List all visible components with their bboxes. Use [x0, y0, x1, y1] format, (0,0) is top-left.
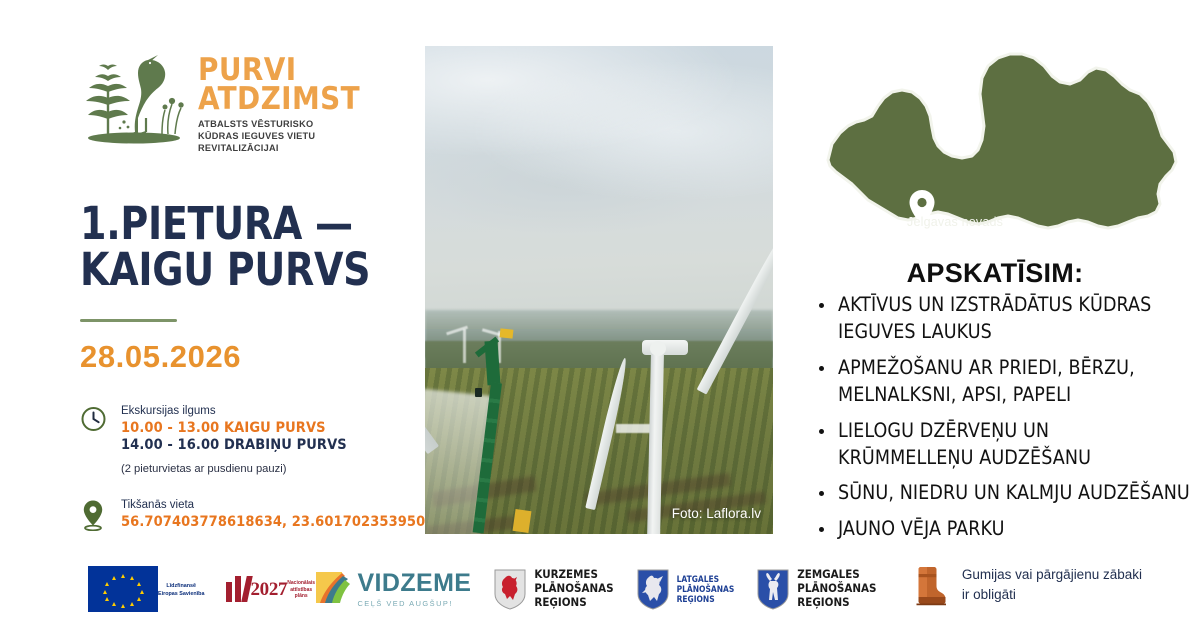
- latgale-line-2: PLĀNOŠANAS: [677, 584, 735, 594]
- duration-slot-2: 14.00 - 16.00 DRABIŅU PURVS: [121, 437, 347, 455]
- eu-flag-icon: [88, 566, 158, 612]
- bog-crane-and-pine-icon: [80, 42, 188, 150]
- meeting-point-label: Tikšanās vieta: [121, 498, 453, 514]
- brand-wordmark: PURVI ATDZIMST ATBALSTS VĒSTURISKO KŪDRA…: [198, 42, 360, 155]
- latgale-region-name: LATGALES PLĀNOŠANAS REĢIONS: [677, 574, 735, 604]
- duration-body: Ekskursijas ilgums 10.00 - 13.00 KAIGU P…: [121, 403, 347, 475]
- list-item: APMEŽOŠANU AR PRIEDI, BĒRZU, MELNALKSNI,…: [814, 355, 1190, 409]
- vidzeme-wordmark: VIDZEME CEĻŠ VED AUGŠUP!: [357, 571, 471, 608]
- kurzeme-lion-shield-icon: [493, 568, 527, 610]
- kurzeme-region-name: KURZEMES PLĀNOŠANAS REĢIONS: [534, 568, 613, 609]
- meeting-point-body: Tikšanās vieta 56.707403778618634, 23.60…: [121, 497, 453, 530]
- brand-tagline: ATBALSTS VĒSTURISKO KŪDRAS IEGUVES VIETU…: [198, 119, 360, 154]
- vidzeme-logo: VIDZEME CEĻŠ VED AUGŠUP!: [312, 569, 471, 609]
- footwear-line-2: ir obligāti: [962, 585, 1142, 605]
- nap-year: 2027: [250, 580, 287, 599]
- photo-credit: Foto: Laflora.lv: [672, 506, 761, 521]
- duration-block: Ekskursijas ilgums 10.00 - 13.00 KAIGU P…: [80, 403, 410, 475]
- zemgale-region-logo: ZEMGALES PLĀNOŠANAS REĢIONS: [756, 568, 876, 610]
- eu-caption-line-1: Līdzfinansē: [158, 583, 204, 590]
- meeting-point-block: Tikšanās vieta 56.707403778618634, 23.60…: [80, 497, 410, 530]
- eu-cofunding-logo: Līdzfinansē Eiropas Savienība: [88, 566, 204, 612]
- latgale-line-1: LATGALES: [677, 574, 735, 584]
- rubber-boot-icon: [908, 564, 948, 606]
- hero-photo: Foto: Laflora.lv: [425, 46, 773, 534]
- nap-2027-logo: 2027 Nacionālais attīstības plāns: [226, 576, 290, 602]
- left-column: PURVI ATDZIMST ATBALSTS VĒSTURISKO KŪDRA…: [80, 42, 410, 530]
- photo-crane-hook: [475, 388, 482, 397]
- list-item: LIELOGU DZĒRVEŅU UN KRŪMMELLEŅU AUDZĒŠAN…: [814, 418, 1190, 472]
- photo-crane-top: [484, 341, 500, 386]
- kurzeme-line-2: PLĀNOŠANAS: [534, 582, 613, 596]
- nap-caption-line-1: Nacionālais: [287, 580, 315, 587]
- vidzeme-name: VIDZEME: [357, 571, 471, 596]
- brand-logo: PURVI ATDZIMST ATBALSTS VĒSTURISKO KŪDRA…: [80, 42, 410, 155]
- nap-caption: Nacionālais attīstības plāns: [287, 580, 315, 600]
- zemgale-elk-shield-icon: [756, 568, 790, 610]
- right-column: Jelgavas novads APSKATĪSIM: AKTĪVUS UN I…: [800, 40, 1190, 540]
- title-divider: [80, 319, 177, 322]
- latvia-map: Jelgavas novads: [822, 40, 1182, 255]
- brand-tagline-line-3: REVITALIZĀCIJAI: [198, 143, 360, 155]
- footer-logo-strip: Līdzfinansē Eiropas Savienība 2027 Nacio…: [88, 566, 877, 612]
- zemgale-line-2: PLĀNOŠANAS: [797, 582, 876, 596]
- event-poster: PURVI ATDZIMST ATBALSTS VĒSTURISKO KŪDRA…: [0, 0, 1200, 630]
- see-section-list: AKTĪVUS UN IZSTRĀDĀTUS KŪDRAS IEGUVES LA…: [814, 292, 1190, 552]
- kurzeme-region-logo: KURZEMES PLĀNOŠANAS REĢIONS: [493, 568, 613, 610]
- photo-crane-yellow-section: [499, 328, 513, 338]
- latgale-griffin-shield-icon: [636, 568, 670, 610]
- duration-slot-1: 10.00 - 13.00 KAIGU PURVS: [121, 420, 347, 438]
- footwear-line-1: Gumijas vai pārgājienu zābaki: [962, 565, 1142, 585]
- meeting-point-coordinates[interactable]: 56.707403778618634, 23.601702353950568: [121, 514, 453, 530]
- photo-turbine-hub: [650, 341, 666, 356]
- list-item: AKTĪVUS UN IZSTRĀDĀTUS KŪDRAS IEGUVES LA…: [814, 292, 1190, 346]
- brand-tagline-line-1: ATBALSTS VĒSTURISKO: [198, 119, 360, 131]
- page-title: 1.PIETURA — KAIGU PURVS: [80, 201, 390, 294]
- kurzeme-line-3: REĢIONS: [534, 596, 613, 610]
- duration-note: (2 pieturvietas ar pusdienu pauzi): [121, 463, 347, 475]
- event-date: 28.05.2026: [80, 339, 410, 375]
- eu-logo-caption: Līdzfinansē Eiropas Savienība: [158, 583, 204, 597]
- duration-label: Ekskursijas ilgums: [121, 404, 347, 420]
- map-region-label: Jelgavas novads: [907, 215, 1003, 229]
- map-pin-icon: [80, 497, 108, 527]
- brand-word-atdzimst: ATDZIMST: [198, 85, 360, 114]
- nap-caption-line-2: attīstības plāns: [287, 587, 315, 600]
- see-section-title: APSKATĪSIM:: [800, 258, 1190, 289]
- clock-icon: [80, 403, 108, 433]
- vidzeme-swoosh-icon: [312, 569, 350, 609]
- zemgale-line-3: REĢIONS: [797, 596, 876, 610]
- brand-tagline-line-2: KŪDRAS IEGUVES VIETU: [198, 131, 360, 143]
- list-item: SŪNU, NIEDRU UN KALMJU AUDZĒŠANU: [814, 480, 1190, 507]
- photo-distant-turbine: [463, 329, 466, 363]
- page-title-line-2: KAIGU PURVS: [80, 247, 390, 293]
- event-details: Ekskursijas ilgums 10.00 - 13.00 KAIGU P…: [80, 403, 410, 529]
- footwear-text: Gumijas vai pārgājienu zābaki ir obligāt…: [962, 565, 1142, 604]
- page-title-line-1: 1.PIETURA —: [80, 197, 353, 250]
- zemgale-region-name: ZEMGALES PLĀNOŠANAS REĢIONS: [797, 568, 876, 609]
- footwear-requirement: Gumijas vai pārgājienu zābaki ir obligāt…: [908, 564, 1142, 606]
- nap-bars-icon: [226, 576, 250, 602]
- latgale-region-logo: LATGALES PLĀNOŠANAS REĢIONS: [636, 568, 735, 610]
- vidzeme-tagline: CEĻŠ VED AUGŠUP!: [357, 599, 471, 608]
- list-item: JAUNO VĒJA PARKU: [814, 516, 1190, 543]
- latgale-line-3: REĢIONS: [677, 594, 735, 604]
- photo-sky: [425, 46, 773, 329]
- photo-crane-yellow-base: [512, 509, 531, 533]
- eu-caption-line-2: Eiropas Savienība: [158, 591, 204, 598]
